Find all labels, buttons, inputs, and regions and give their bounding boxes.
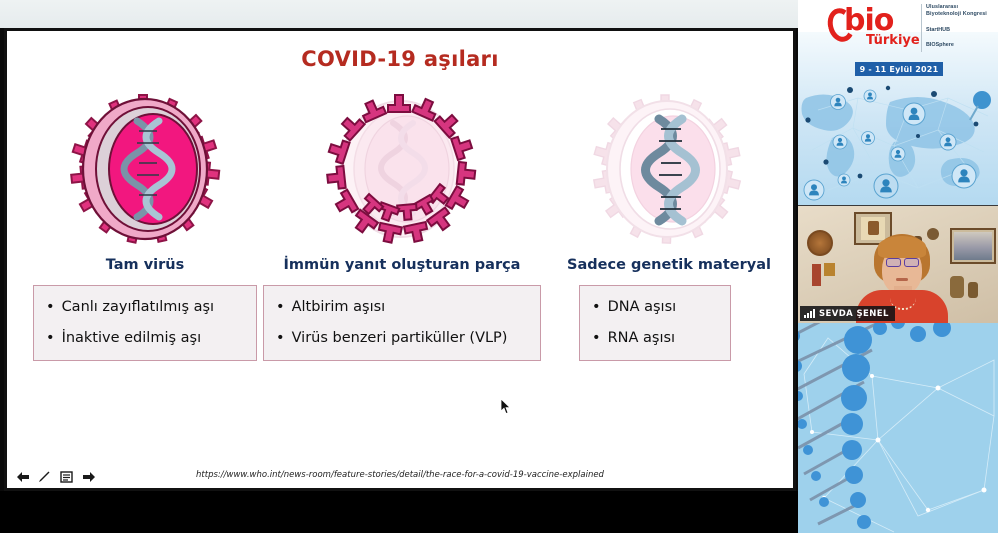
list-item: Canlı zayıflatılmış aşı [46, 296, 244, 318]
wall-ornament-5 [968, 282, 978, 298]
wall-ornament-4 [950, 276, 964, 298]
column-heading-1: Tam virüs [25, 257, 265, 273]
logo-wordmark: bio [844, 6, 893, 36]
stage-top-bar [0, 0, 798, 28]
branding-line-3: StartHUB [926, 27, 996, 33]
wall-medallion [807, 230, 833, 256]
wall-art-landscape-scene [954, 232, 992, 260]
arrow-right-icon[interactable] [81, 469, 96, 484]
list-item: Virüs benzeri partiküller (VLP) [276, 327, 528, 349]
arrow-left-icon[interactable] [15, 469, 30, 484]
speaker-mouth [896, 278, 908, 281]
wall-plaque-2 [824, 263, 835, 276]
event-date-badge: 9 - 11 Eylül 2021 [855, 62, 943, 76]
mouse-cursor [500, 398, 512, 415]
logo-subtext: Türkiye [866, 33, 920, 48]
slide-frame: COVID-19 aşıları [4, 28, 796, 491]
slide-canvas: COVID-19 aşıları [7, 31, 793, 488]
vaccine-type-box-1: Canlı zayıflatılmış aşı İnaktive edilmiş… [33, 285, 257, 361]
branding-line-2: Biyoteknoloji Kongresi [926, 11, 996, 18]
full-virus-illustration [47, 89, 243, 249]
speaker-glasses-right [904, 258, 919, 267]
list-item: İnaktive edilmiş aşı [46, 327, 244, 349]
column-heading-3: Sadece genetik materyal [547, 257, 791, 273]
wall-art-1-motif [868, 221, 879, 235]
list-item: Altbirim aşısı [276, 296, 528, 318]
presentation-screen: COVID-19 aşıları [0, 0, 998, 533]
slide-title: COVID-19 aşıları [7, 47, 793, 71]
dna-network-graphic [798, 320, 998, 533]
list-item: RNA aşısı [592, 327, 718, 349]
spike-protein-virus-illustration [303, 89, 499, 249]
slide-controls [15, 469, 96, 484]
list-item: DNA aşısı [592, 296, 718, 318]
audio-bars-icon [804, 309, 815, 318]
world-map-graphic [798, 80, 998, 210]
wall-ornament-2 [927, 228, 939, 240]
branding-divider [921, 4, 922, 52]
column-heading-2: İmmün yanıt oluşturan parça [257, 257, 547, 273]
stage-bottom-bar [0, 491, 798, 533]
branding-texts: Uluslararası Biyoteknoloji Kongresi Star… [926, 4, 996, 48]
speaker-glasses-left [886, 258, 901, 267]
speaker-name-badge: SEVDA ŞENEL [800, 306, 895, 321]
genetic-material-virus-illustration [569, 89, 765, 249]
vaccine-type-box-3: DNA aşısı RNA aşısı [579, 285, 731, 361]
vaccine-type-box-2: Altbirim aşısı Virüs benzeri partiküller… [263, 285, 541, 361]
speaker-video-tile[interactable]: SEVDA ŞENEL [798, 205, 998, 323]
speaker-hair-front [878, 236, 926, 258]
pen-icon[interactable] [37, 469, 52, 484]
bio-turkiye-logo: bio Türkiye [822, 2, 932, 58]
speaker-name: SEVDA ŞENEL [819, 309, 889, 319]
branding-line-1: Uluslararası [926, 4, 996, 11]
notes-icon[interactable] [59, 469, 74, 484]
wall-plaque-1 [812, 264, 821, 286]
source-url: https://www.who.int/news-room/feature-st… [7, 470, 793, 480]
branding-line-4: BIOSphere [926, 42, 996, 48]
